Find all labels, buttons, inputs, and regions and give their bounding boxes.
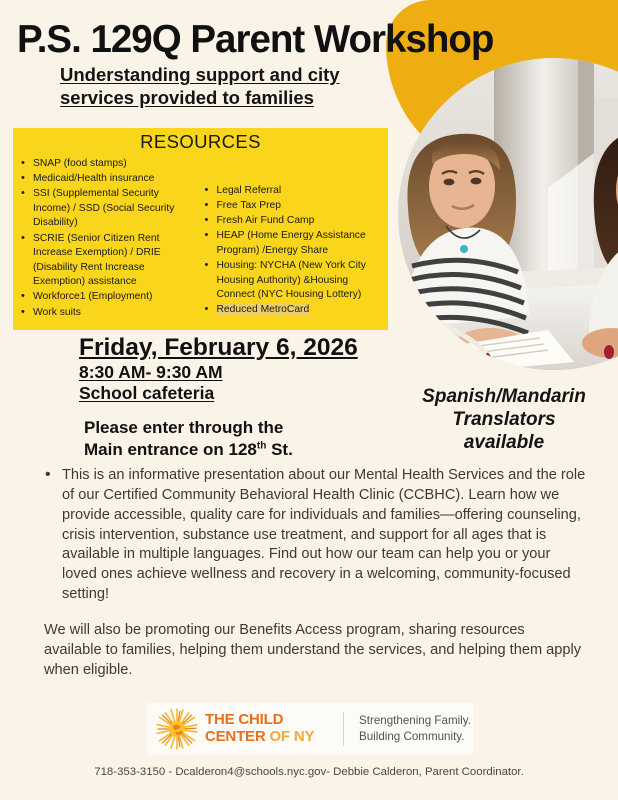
ordinal-suffix: th bbox=[257, 440, 266, 451]
logo-tagline: Strengthening Family. Building Community… bbox=[344, 713, 471, 744]
page-title: P.S. 129Q Parent Workshop bbox=[17, 18, 602, 62]
entrance-line-1: Please enter through the bbox=[84, 418, 283, 437]
resource-item: SSI (Supplemental Security Income) / SSD… bbox=[19, 187, 199, 231]
contact-footer: 718-353-3150 - Dcalderon4@schools.nyc.go… bbox=[0, 766, 618, 778]
translators-line-2: Translators bbox=[452, 409, 555, 430]
resource-item: SCRIE (Senior Citizen Rent Increase Exem… bbox=[19, 232, 199, 290]
partner-logo: THE CHILD CENTER OF NY Strengthening Fam… bbox=[147, 703, 473, 755]
translators-line-3: available bbox=[464, 432, 544, 453]
page-subtitle: Understanding support and city services … bbox=[60, 64, 390, 109]
resource-item: SNAP (food stamps) bbox=[19, 157, 199, 172]
resource-item: Workforce1 (Employment) bbox=[19, 290, 199, 305]
event-location: School cafeteria bbox=[79, 383, 214, 404]
translators-line-1: Spanish/Mandarin bbox=[422, 386, 586, 407]
description-bullets: This is an informative presentation abou… bbox=[41, 466, 586, 605]
resource-item: Free Tax Prep bbox=[203, 199, 383, 214]
logo-line-2-light: OF NY bbox=[265, 728, 314, 745]
tagline-line-1: Strengthening Family. bbox=[359, 713, 471, 729]
resources-column-left: SNAP (food stamps) Medicaid/Health insur… bbox=[19, 157, 199, 321]
resource-item: Medicaid/Health insurance bbox=[19, 172, 199, 187]
entrance-instructions: Please enter through the Main entrance o… bbox=[84, 417, 384, 461]
event-date: Friday, February 6, 2026 bbox=[79, 334, 358, 362]
logo-line-2-bold: CENTER bbox=[205, 728, 265, 745]
translators-note: Spanish/Mandarin Translators available bbox=[396, 385, 612, 455]
resources-column-right: Legal Referral Free Tax Prep Fresh Air F… bbox=[203, 157, 383, 321]
resource-item: HEAP (Home Energy Assistance Program) /E… bbox=[203, 229, 383, 258]
entrance-line-2-pre: Main entrance on 128 bbox=[84, 440, 257, 459]
sun-icon bbox=[155, 707, 199, 751]
event-time: 8:30 AM- 9:30 AM bbox=[79, 362, 223, 383]
resource-item-highlighted: Reduced MetroCard bbox=[203, 303, 383, 318]
logo-line-2: CENTER OF NY bbox=[205, 729, 314, 746]
description-bullet-item: This is an informative presentation abou… bbox=[41, 466, 586, 605]
logo-lockup: THE CHILD CENTER OF NY bbox=[147, 707, 343, 751]
logo-wordmark: THE CHILD CENTER OF NY bbox=[205, 712, 314, 746]
resource-item: Legal Referral bbox=[203, 184, 383, 199]
resource-item: Fresh Air Fund Camp bbox=[203, 214, 383, 229]
tagline-line-2: Building Community. bbox=[359, 729, 471, 745]
resource-item: Housing: NYCHA (New York City Housing Au… bbox=[203, 259, 383, 303]
description-paragraph: We will also be promoting our Benefits A… bbox=[44, 621, 584, 681]
entrance-line-2-post: St. bbox=[266, 440, 292, 459]
resource-item: Work suits bbox=[19, 306, 199, 321]
resources-panel: RESOURCES SNAP (food stamps) Medicaid/He… bbox=[13, 128, 388, 330]
resources-heading: RESOURCES bbox=[13, 131, 388, 153]
logo-line-1: THE CHILD bbox=[205, 712, 314, 729]
